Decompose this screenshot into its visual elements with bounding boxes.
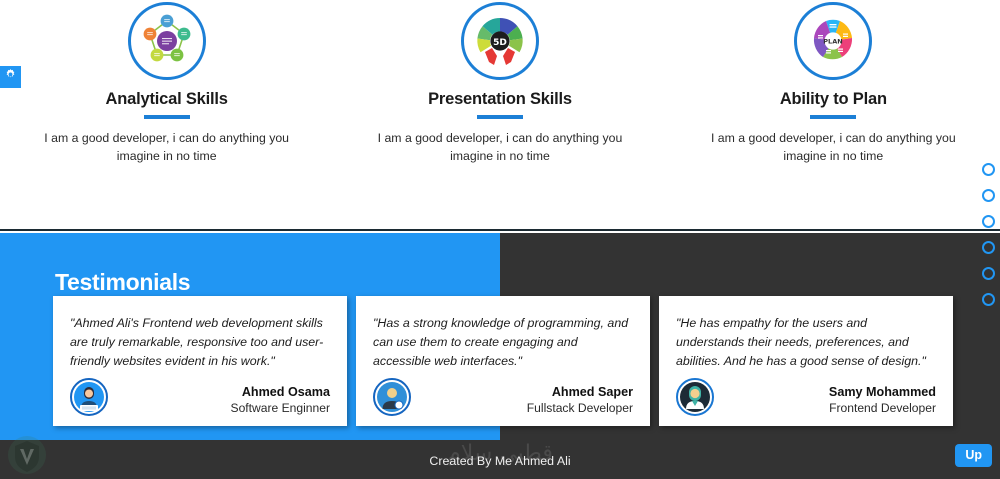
skill-description: I am a good developer, i can do anything…: [708, 130, 958, 166]
testimonial-name: Ahmed Osama: [231, 385, 331, 401]
skills-section: Analytical Skills I am a good developer,…: [0, 0, 1000, 231]
ability-to-plan-wheel-icon: PLAN: [794, 2, 872, 80]
page-footer: قطبي سلام Created By Me Ahmed Ali: [0, 440, 1000, 479]
scroll-up-button[interactable]: Up: [955, 444, 992, 467]
testimonial-card[interactable]: "Has a strong knowledge of programming, …: [356, 296, 650, 426]
testimonials-heading: Testimonials: [55, 269, 190, 296]
skill-title: Presentation Skills: [428, 90, 572, 109]
testimonial-role: Frontend Developer: [829, 401, 936, 416]
avatar-male-laptop-icon: [70, 378, 108, 416]
skill-title-underline: [477, 115, 523, 119]
testimonial-quote: "Ahmed Ali's Frontend web development sk…: [70, 314, 330, 372]
skill-card-plan: PLAN: [667, 2, 1000, 166]
svg-text:PLAN: PLAN: [824, 38, 843, 46]
nav-dot-3[interactable]: [982, 215, 995, 228]
testimonial-quote: "Has a strong knowledge of programming, …: [373, 314, 633, 372]
testimonial-footer: Samy Mohammed Frontend Developer: [676, 378, 936, 416]
skill-description: I am a good developer, i can do anything…: [375, 130, 625, 166]
gear-icon: [4, 68, 17, 86]
testimonials-section: Testimonials "Ahmed Ali's Frontend web d…: [0, 233, 1000, 440]
testimonial-footer: Ahmed Osama Software Enginner: [70, 378, 330, 416]
section-dot-navigation: [982, 163, 995, 306]
analytical-skills-pentagon-diagram-icon: [128, 2, 206, 80]
presentation-skills-wheel-badge-icon: 5D: [461, 2, 539, 80]
skill-description: I am a good developer, i can do anything…: [42, 130, 292, 166]
testimonial-person: Ahmed Saper Fullstack Developer: [527, 385, 633, 416]
settings-gear-button[interactable]: [0, 66, 21, 88]
skill-title-underline: [810, 115, 856, 119]
nav-dot-4[interactable]: [982, 241, 995, 254]
nav-dot-2[interactable]: [982, 189, 995, 202]
testimonial-role: Fullstack Developer: [527, 401, 633, 416]
testimonial-quote: "He has empathy for the users and unders…: [676, 314, 936, 372]
testimonial-person: Ahmed Osama Software Enginner: [231, 385, 331, 416]
skill-card-analytical: Analytical Skills I am a good developer,…: [0, 2, 333, 166]
footer-credit-text: Created By Me Ahmed Ali: [0, 454, 1000, 468]
testimonial-footer: Ahmed Saper Fullstack Developer: [373, 378, 633, 416]
nav-dot-5[interactable]: [982, 267, 995, 280]
skill-title: Ability to Plan: [780, 90, 887, 109]
testimonial-card[interactable]: "Ahmed Ali's Frontend web development sk…: [53, 296, 347, 426]
testimonials-cards-row: "Ahmed Ali's Frontend web development sk…: [53, 296, 953, 426]
skill-card-presentation: 5D Presentation Skills I am a good devel…: [333, 2, 666, 166]
testimonial-name: Samy Mohammed: [829, 385, 936, 401]
skill-title: Analytical Skills: [106, 90, 228, 109]
testimonial-person: Samy Mohammed Frontend Developer: [829, 385, 936, 416]
portfolio-page: Analytical Skills I am a good developer,…: [0, 0, 1000, 479]
svg-text:5D: 5D: [493, 38, 507, 48]
nav-dot-1[interactable]: [982, 163, 995, 176]
testimonial-role: Software Enginner: [231, 401, 331, 416]
testimonial-card[interactable]: "He has empathy for the users and unders…: [659, 296, 953, 426]
avatar-male-icon: [373, 378, 411, 416]
testimonial-name: Ahmed Saper: [527, 385, 633, 401]
skill-title-underline: [144, 115, 190, 119]
skills-row: Analytical Skills I am a good developer,…: [0, 0, 1000, 166]
nav-dot-6[interactable]: [982, 293, 995, 306]
avatar-person-dark-icon: [676, 378, 714, 416]
